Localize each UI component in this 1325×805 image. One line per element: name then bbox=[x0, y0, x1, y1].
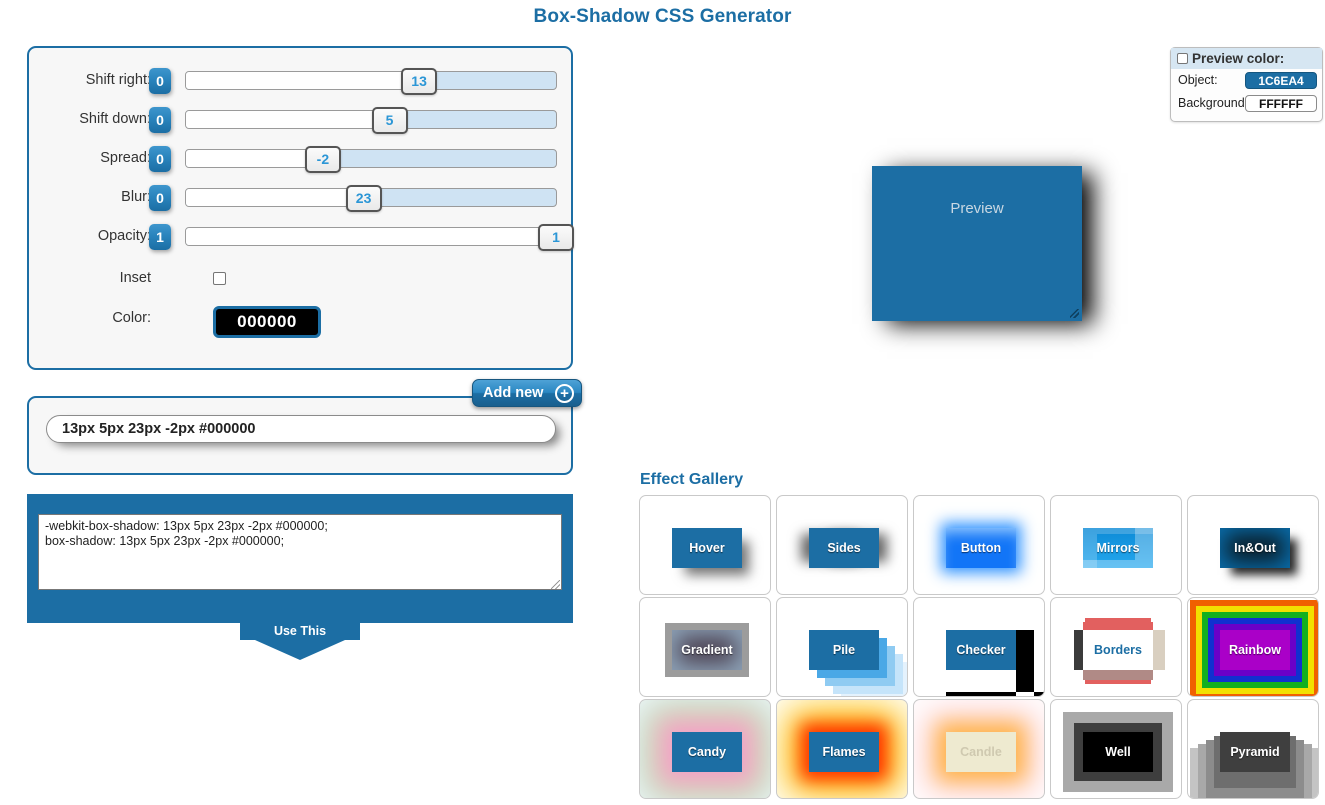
gallery-tile-pile[interactable]: Pile bbox=[776, 597, 908, 697]
gallery-tile-hover[interactable]: Hover bbox=[639, 495, 771, 595]
inset-checkbox[interactable] bbox=[213, 272, 226, 285]
gallery-tile-checker[interactable]: Checker bbox=[913, 597, 1045, 697]
control-label: Shift right: bbox=[29, 72, 151, 88]
slider-fill bbox=[186, 228, 556, 245]
app-root: Box-Shadow CSS Generator Shift right:013… bbox=[0, 0, 1325, 805]
shadow-controls-panel: Shift right:013Shift down:05Spread:0-2Bl… bbox=[27, 46, 573, 370]
gallery-tile-mirrors[interactable]: Mirrors bbox=[1050, 495, 1182, 595]
use-this-button[interactable]: Use This bbox=[240, 623, 360, 640]
gallery-chip: Candle bbox=[946, 732, 1016, 772]
slider-fill bbox=[186, 189, 364, 206]
slider-fill bbox=[186, 72, 419, 89]
control-slider[interactable]: 5 bbox=[185, 110, 557, 129]
gallery-tile-candy[interactable]: Candy bbox=[639, 699, 771, 799]
object-color-input[interactable]: 1C6EA4 bbox=[1245, 72, 1317, 89]
color-label: Color: bbox=[29, 310, 151, 326]
control-label: Shift down: bbox=[29, 111, 151, 127]
plus-circle-icon: + bbox=[555, 384, 574, 403]
gallery-tile-borders[interactable]: Borders bbox=[1050, 597, 1182, 697]
css-output-textarea[interactable]: -webkit-box-shadow: 13px 5px 23px -2px #… bbox=[38, 514, 562, 590]
gallery-chip: Rainbow bbox=[1220, 630, 1290, 670]
control-min-badge[interactable]: 0 bbox=[149, 107, 171, 133]
control-label: Spread: bbox=[29, 150, 151, 166]
preview-background-color-row: Background: FFFFFF bbox=[1171, 92, 1322, 115]
object-color-label: Object: bbox=[1178, 73, 1218, 87]
control-label: Blur: bbox=[29, 189, 151, 205]
control-label: Opacity: bbox=[29, 228, 151, 244]
gallery-chip: Sides bbox=[809, 528, 879, 568]
gallery-tile-pyramid[interactable]: Pyramid bbox=[1187, 699, 1319, 799]
control-min-badge[interactable]: 0 bbox=[149, 185, 171, 211]
textarea-resize-handle-icon[interactable] bbox=[551, 580, 560, 589]
color-input[interactable]: 000000 bbox=[213, 306, 321, 338]
gallery-tile-well[interactable]: Well bbox=[1050, 699, 1182, 799]
gallery-chip: Flames bbox=[809, 732, 879, 772]
gallery-chip: Pyramid bbox=[1220, 732, 1290, 772]
slider-handle[interactable]: 23 bbox=[346, 185, 382, 212]
gallery-tile-gradient[interactable]: Gradient bbox=[639, 597, 771, 697]
control-slider[interactable]: 1 bbox=[185, 227, 557, 246]
gallery-chip: Hover bbox=[672, 528, 742, 568]
gallery-chip: In&Out bbox=[1220, 528, 1290, 568]
inset-row: Inset bbox=[29, 266, 571, 296]
gallery-chip: Borders bbox=[1083, 630, 1153, 670]
slider-handle[interactable]: 1 bbox=[538, 224, 574, 251]
preview-object-color-row: Object: 1C6EA4 bbox=[1171, 69, 1322, 92]
gallery-chip: Pile bbox=[809, 630, 879, 670]
control-row-shiftright: Shift right:013 bbox=[29, 68, 571, 98]
background-color-label: Background: bbox=[1178, 96, 1248, 110]
add-new-button[interactable]: Add new + bbox=[472, 379, 582, 407]
shadow-list-panel: 13px 5px 23px -2px #000000 bbox=[27, 396, 573, 475]
control-slider[interactable]: 13 bbox=[185, 71, 557, 90]
gallery-tile-button[interactable]: Button bbox=[913, 495, 1045, 595]
gallery-tile-candle[interactable]: Candle bbox=[913, 699, 1045, 799]
slider-handle[interactable]: 13 bbox=[401, 68, 437, 95]
preview-color-panel: Preview color: Object: 1C6EA4 Background… bbox=[1170, 47, 1323, 122]
control-min-badge[interactable]: 0 bbox=[149, 146, 171, 172]
inset-label: Inset bbox=[29, 270, 151, 286]
preview-color-checkbox[interactable] bbox=[1177, 53, 1188, 64]
control-row-shiftdown: Shift down:05 bbox=[29, 107, 571, 137]
preview-color-header: Preview color: bbox=[1171, 48, 1322, 69]
slider-handle[interactable]: 5 bbox=[372, 107, 408, 134]
page-title: Box-Shadow CSS Generator bbox=[0, 6, 1325, 28]
add-new-label: Add new bbox=[483, 385, 543, 401]
control-row-opacity: Opacity:11 bbox=[29, 224, 571, 254]
control-row-blur: Blur:023 bbox=[29, 185, 571, 215]
background-color-input[interactable]: FFFFFF bbox=[1245, 95, 1317, 112]
gallery-tile-sides[interactable]: Sides bbox=[776, 495, 908, 595]
gallery-chip: Checker bbox=[946, 630, 1016, 670]
gallery-tile-inout[interactable]: In&Out bbox=[1187, 495, 1319, 595]
shadow-list-item[interactable]: 13px 5px 23px -2px #000000 bbox=[46, 415, 556, 443]
gallery-tile-flames[interactable]: Flames bbox=[776, 699, 908, 799]
slider-fill bbox=[186, 150, 323, 167]
control-row-spread: Spread:0-2 bbox=[29, 146, 571, 176]
gallery-chip: Gradient bbox=[672, 630, 742, 670]
control-min-badge[interactable]: 1 bbox=[149, 224, 171, 250]
control-slider[interactable]: -2 bbox=[185, 149, 557, 168]
preview-object[interactable]: Preview bbox=[872, 166, 1082, 321]
slider-handle[interactable]: -2 bbox=[305, 146, 341, 173]
preview-label: Preview bbox=[872, 200, 1082, 217]
control-slider[interactable]: 23 bbox=[185, 188, 557, 207]
gallery-chip: Candy bbox=[672, 732, 742, 772]
gallery-chip: Mirrors bbox=[1083, 528, 1153, 568]
gallery-chip: Well bbox=[1083, 732, 1153, 772]
gallery-chip: Button bbox=[946, 528, 1016, 568]
preview-color-title: Preview color: bbox=[1192, 51, 1284, 66]
css-output-panel: -webkit-box-shadow: 13px 5px 23px -2px #… bbox=[27, 494, 573, 623]
slider-fill bbox=[186, 111, 390, 128]
preview-resize-handle-icon[interactable] bbox=[1070, 309, 1079, 318]
control-min-badge[interactable]: 0 bbox=[149, 68, 171, 94]
color-row: Color: 000000 bbox=[29, 306, 571, 340]
use-this-arrow-icon bbox=[255, 640, 345, 660]
effect-gallery-title: Effect Gallery bbox=[640, 471, 743, 489]
gallery-tile-rainbow[interactable]: Rainbow bbox=[1187, 597, 1319, 697]
effect-gallery: HoverSidesButtonMirrorsIn&OutGradientPil… bbox=[639, 495, 1319, 799]
